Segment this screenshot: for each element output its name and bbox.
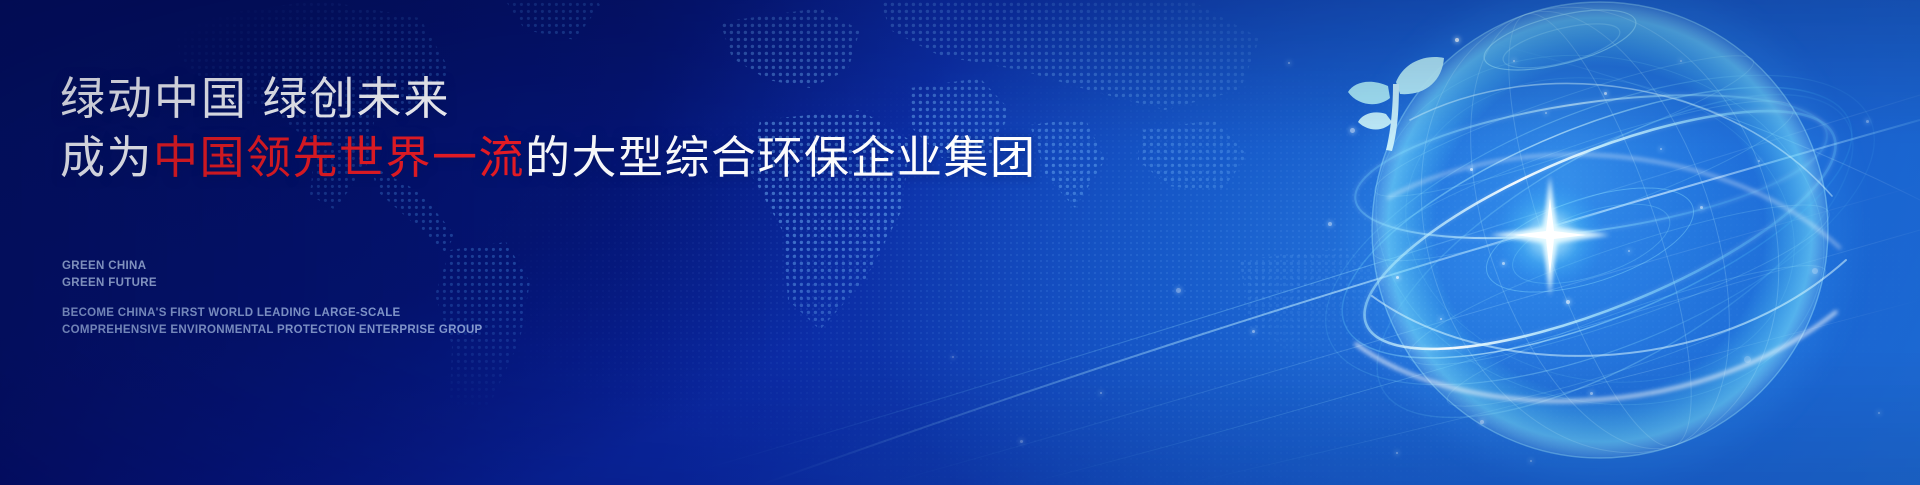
- vignette-overlay: [0, 0, 1920, 485]
- hero-banner: 绿动中国 绿创未来 成为中国领先世界一流的大型综合环保企业集团 GREEN CH…: [0, 0, 1920, 485]
